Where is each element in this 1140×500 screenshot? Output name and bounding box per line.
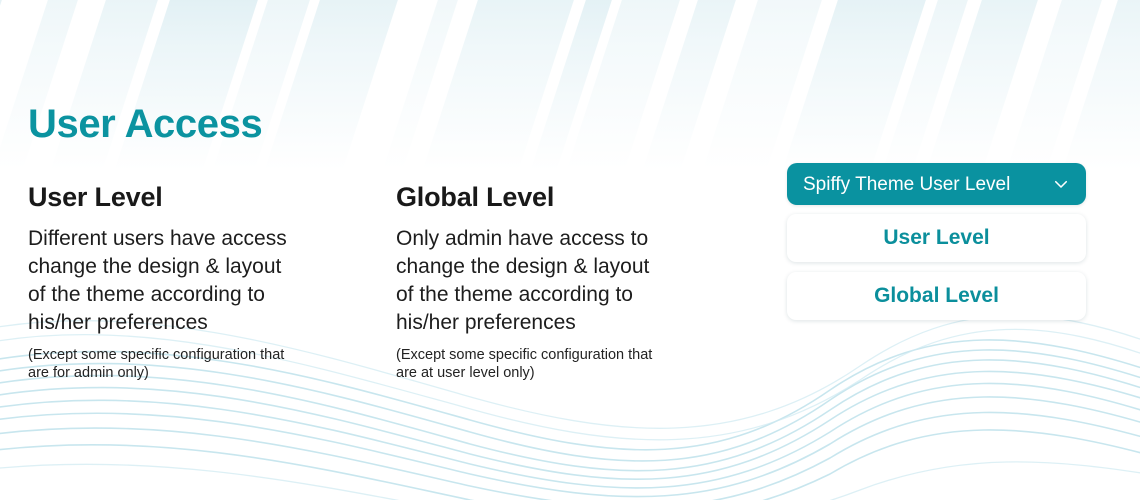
dropdown-option-label: Global Level (874, 284, 999, 308)
dropdown-option-global-level[interactable]: Global Level (787, 272, 1086, 320)
column-user-level: User Level Different users have access c… (28, 182, 373, 382)
dropdown-selected-label: Spiffy Theme User Level (803, 175, 1052, 194)
column-heading-global-level: Global Level (396, 182, 731, 213)
column-body-global-level: Only admin have access to change the des… (396, 225, 731, 337)
dropdown-option-label: User Level (883, 226, 989, 250)
chevron-down-icon (1052, 175, 1070, 193)
page-title: User Access (28, 104, 262, 144)
column-note-global-level: (Except some specific configuration that… (396, 346, 731, 382)
dropdown-menu: User Level Global Level (787, 214, 1086, 320)
slide-canvas: User Access User Level Different users h… (0, 0, 1140, 500)
column-body-user-level: Different users have access change the d… (28, 225, 373, 337)
dropdown-toggle-button[interactable]: Spiffy Theme User Level (787, 163, 1086, 205)
column-heading-user-level: User Level (28, 182, 373, 213)
column-global-level: Global Level Only admin have access to c… (396, 182, 731, 382)
user-level-dropdown: Spiffy Theme User Level User Level Globa… (787, 163, 1086, 320)
dropdown-option-user-level[interactable]: User Level (787, 214, 1086, 262)
column-note-user-level: (Except some specific configuration that… (28, 346, 373, 382)
